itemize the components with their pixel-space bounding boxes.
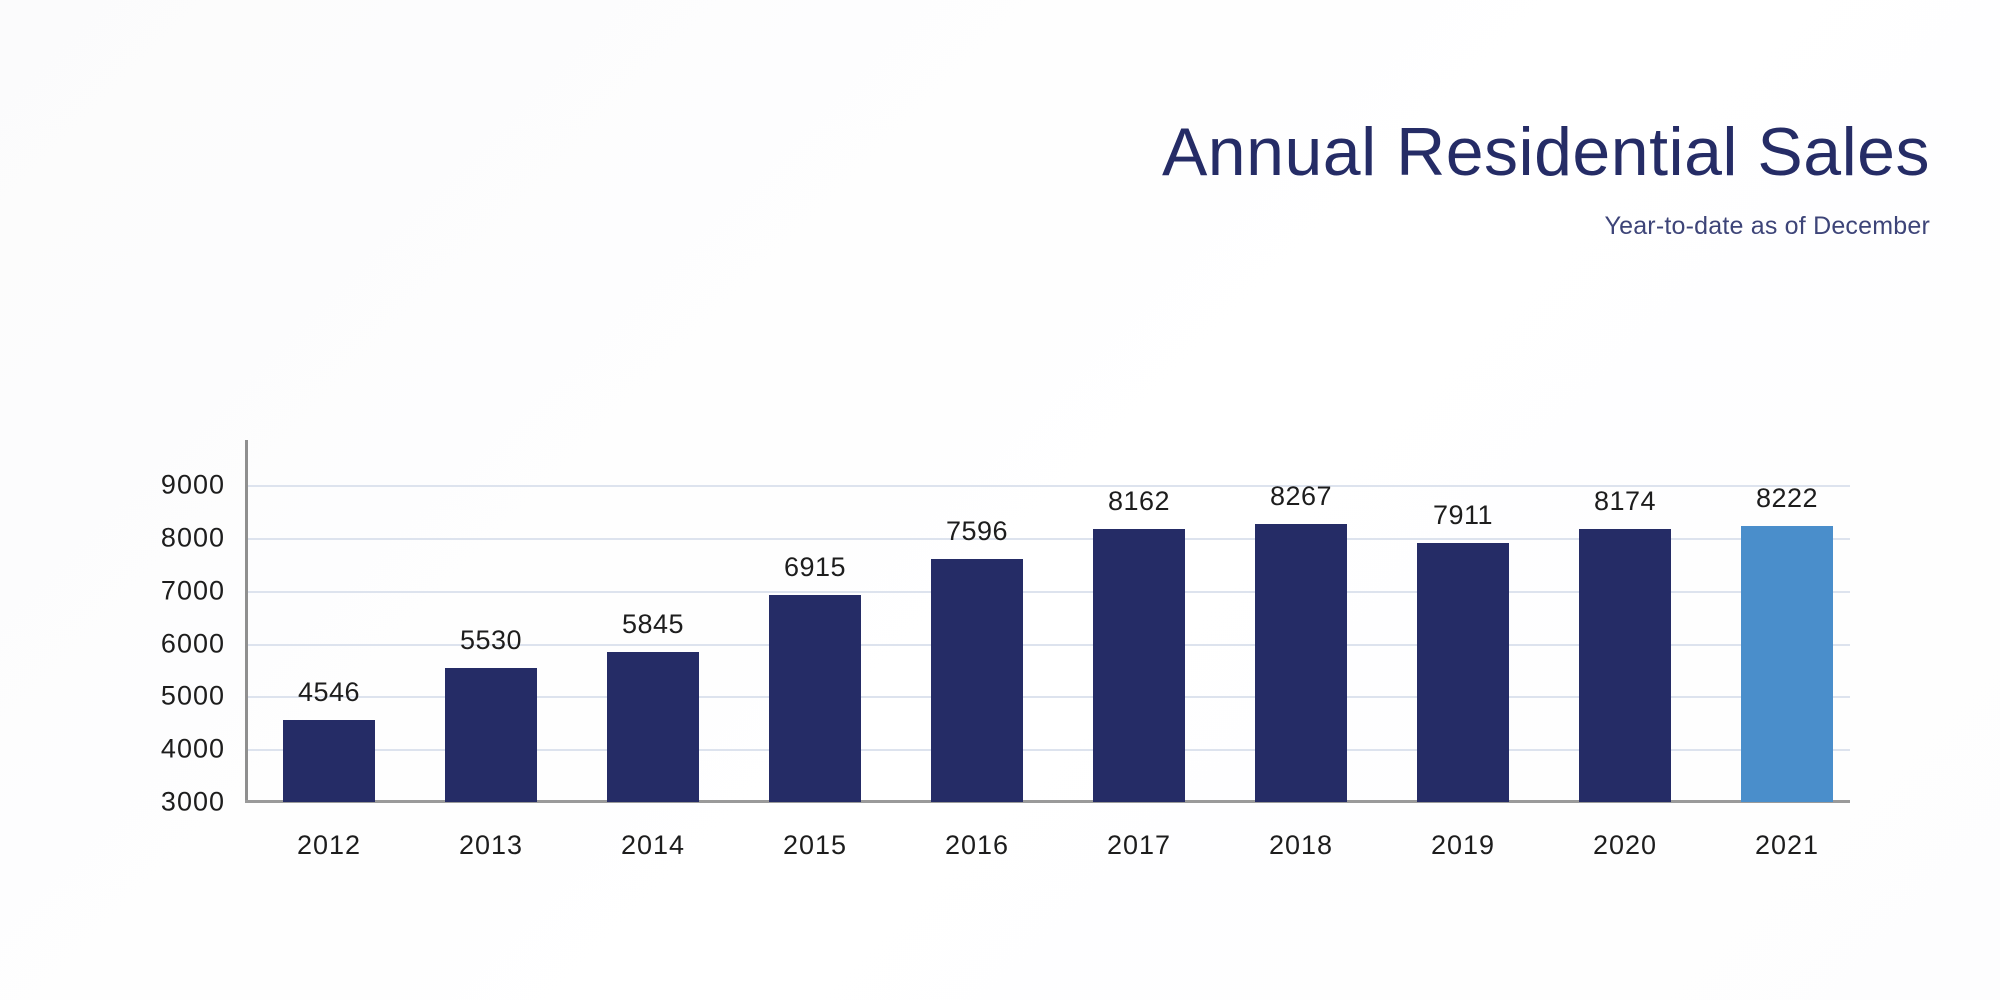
x-axis-tick-label: 2018 [1231, 830, 1371, 861]
bar-value-label: 8174 [1594, 486, 1656, 517]
bar[interactable]: 4546 [283, 720, 375, 802]
y-axis-tick-label: 6000 [65, 628, 225, 659]
chart-canvas: Annual Residential Sales Year-to-date as… [0, 0, 2000, 1000]
bar-rect[interactable] [931, 559, 1023, 802]
bar-rect[interactable] [1741, 526, 1833, 802]
x-axis-tick-label: 2012 [259, 830, 399, 861]
y-axis-tick-label: 8000 [65, 522, 225, 553]
bar-value-label: 5845 [622, 609, 684, 640]
x-axis-tick-label: 2021 [1717, 830, 1857, 861]
y-axis-tick-label: 9000 [65, 470, 225, 501]
bar-value-label: 7911 [1433, 500, 1493, 531]
bar-rect[interactable] [445, 668, 537, 802]
bar[interactable]: 8174 [1579, 529, 1671, 802]
x-axis-tick-label: 2017 [1069, 830, 1209, 861]
y-axis-tick-label: 5000 [65, 681, 225, 712]
y-axis-line [245, 440, 248, 802]
x-axis-tick-label: 2019 [1393, 830, 1533, 861]
bar[interactable]: 5530 [445, 668, 537, 802]
bar-value-label: 6915 [784, 552, 846, 583]
bar-rect[interactable] [607, 652, 699, 802]
plot-area: 3000400050006000700080009000 45465530584… [0, 0, 2000, 1000]
x-axis-tick-label: 2020 [1555, 830, 1695, 861]
bar-rect[interactable] [1417, 543, 1509, 802]
x-axis-tick-label: 2014 [583, 830, 723, 861]
bar-value-label: 8267 [1270, 481, 1332, 512]
bar-value-label: 4546 [298, 677, 360, 708]
bar-rect[interactable] [769, 595, 861, 802]
bar-value-label: 5530 [460, 625, 522, 656]
x-axis-tick-label: 2013 [421, 830, 561, 861]
bar[interactable]: 7596 [931, 559, 1023, 802]
bar[interactable]: 8267 [1255, 524, 1347, 802]
bar[interactable]: 7911 [1417, 543, 1509, 802]
y-axis-tick-label: 4000 [65, 734, 225, 765]
bar-value-label: 8222 [1756, 483, 1818, 514]
x-axis-tick-label: 2015 [745, 830, 885, 861]
bar-value-label: 7596 [946, 516, 1008, 547]
bar-rect[interactable] [1093, 529, 1185, 802]
y-axis-tick-label: 7000 [65, 575, 225, 606]
bar[interactable]: 5845 [607, 652, 699, 802]
bar-value-label: 8162 [1108, 486, 1170, 517]
x-axis-tick-label: 2016 [907, 830, 1047, 861]
bar-rect[interactable] [283, 720, 375, 802]
bar[interactable]: 6915 [769, 595, 861, 802]
bar[interactable]: 8222 [1741, 526, 1833, 802]
bar-rect[interactable] [1255, 524, 1347, 802]
bar[interactable]: 8162 [1093, 529, 1185, 802]
bar-rect[interactable] [1579, 529, 1671, 802]
y-axis-tick-label: 3000 [65, 787, 225, 818]
